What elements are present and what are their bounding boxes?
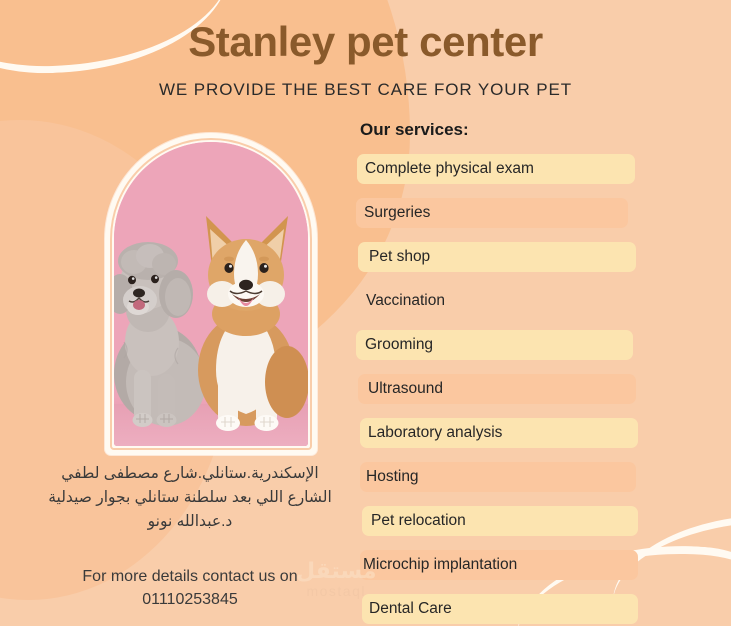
- service-item-label: Vaccination: [366, 286, 445, 316]
- service-item[interactable]: Ultrasound: [356, 374, 648, 404]
- service-item-label: Ultrasound: [368, 374, 443, 404]
- service-item[interactable]: Hosting: [356, 462, 648, 492]
- address-line-1: الإسكندرية.ستانلي.شارع مصطفى لطفي: [40, 462, 340, 486]
- service-item[interactable]: Dental Care: [356, 594, 648, 624]
- service-item-label: Laboratory analysis: [368, 418, 502, 448]
- page-title: Stanley pet center: [0, 20, 731, 64]
- pet-photo: [114, 142, 308, 446]
- service-item[interactable]: Surgeries: [356, 198, 648, 228]
- address-line-3: د.عبدالله نونو: [40, 510, 340, 534]
- service-item-label: Pet relocation: [371, 506, 466, 536]
- service-item[interactable]: Laboratory analysis: [356, 418, 648, 448]
- services-heading: Our services:: [360, 120, 648, 140]
- service-item-label: Pet shop: [369, 242, 430, 272]
- services-list: Complete physical examSurgeriesPet shopV…: [356, 154, 648, 624]
- service-item[interactable]: Complete physical exam: [356, 154, 648, 184]
- page-subtitle: WE PROVIDE THE BEST CARE FOR YOUR PET: [0, 80, 731, 100]
- contact-prompt: For more details contact us on: [30, 565, 350, 588]
- dogs-illustration: [114, 142, 308, 446]
- poster-canvas: Stanley pet center WE PROVIDE THE BEST C…: [0, 0, 731, 626]
- service-item[interactable]: Grooming: [356, 330, 648, 360]
- service-item-label: Hosting: [366, 462, 419, 492]
- poster-header: Stanley pet center WE PROVIDE THE BEST C…: [0, 20, 731, 100]
- service-item-label: Microchip implantation: [363, 550, 517, 580]
- services-section: Our services: Complete physical examSurg…: [356, 120, 648, 626]
- contact-phone-number[interactable]: 01110253845: [30, 588, 350, 611]
- service-item-label: Surgeries: [364, 198, 430, 228]
- service-item[interactable]: Vaccination: [356, 286, 648, 316]
- corgi-dog: [198, 216, 308, 431]
- contact-block: For more details contact us on 011102538…: [30, 565, 350, 611]
- service-item-label: Complete physical exam: [365, 154, 534, 184]
- service-item[interactable]: Pet relocation: [356, 506, 648, 536]
- address-line-2: الشارع اللي بعد سلطنة ستانلي بجوار صيدلي…: [40, 486, 340, 510]
- service-item-label: Dental Care: [369, 594, 452, 624]
- poodle-dog: [114, 242, 206, 427]
- pet-photo-frame: [105, 133, 317, 455]
- service-item-label: Grooming: [365, 330, 433, 360]
- clinic-address: الإسكندرية.ستانلي.شارع مصطفى لطفي الشارع…: [40, 462, 340, 534]
- service-item[interactable]: Pet shop: [356, 242, 648, 272]
- service-item[interactable]: Microchip implantation: [356, 550, 648, 580]
